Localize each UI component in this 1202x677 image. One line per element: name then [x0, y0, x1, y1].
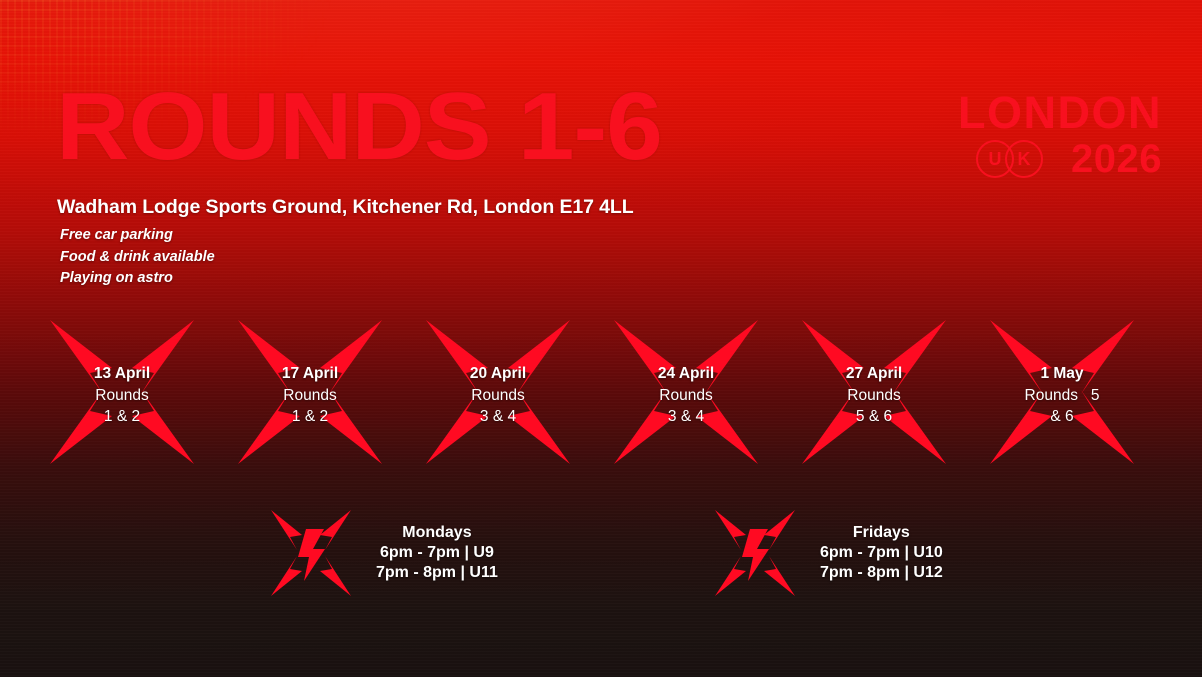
lightning-burst-icon	[712, 505, 798, 601]
venue-notes: Free car parking Food & drink available …	[60, 225, 215, 290]
training-text-mondays: Mondays 6pm - 7pm | U9 7pm - 8pm | U11	[376, 523, 498, 583]
page-title: ROUNDS 1-6	[56, 79, 662, 175]
fixture-burst[interactable]: 27 AprilRounds5 & 6	[798, 316, 950, 468]
logo-year-label: 2026	[1071, 139, 1162, 179]
poster-canvas: ROUNDS 1-6 Wadham Lodge Sports Ground, K…	[0, 0, 1202, 677]
training-block-mondays: Mondays 6pm - 7pm | U9 7pm - 8pm | U11	[268, 505, 498, 601]
fixture-burst[interactable]: 13 AprilRounds1 & 2	[46, 316, 198, 468]
training-slot-1: 6pm - 7pm | U10	[820, 544, 943, 561]
training-slot-2: 7pm - 8pm | U12	[820, 564, 943, 581]
training-day-label: Mondays	[402, 524, 471, 541]
uk-roundel-icon: U K	[976, 140, 1062, 178]
venue-note-0: Free car parking	[60, 225, 215, 247]
venue-note-2: Playing on astro	[60, 268, 215, 290]
fixture-burst[interactable]: 1 MayRounds 5& 6	[986, 316, 1138, 468]
training-day-label: Fridays	[853, 524, 910, 541]
training-block-fridays: Fridays 6pm - 7pm | U10 7pm - 8pm | U12	[712, 505, 943, 601]
london-2026-logo: LONDON U K 2026	[958, 90, 1162, 179]
venue-note-1: Food & drink available	[60, 247, 215, 269]
fixture-burst[interactable]: 20 AprilRounds3 & 4	[422, 316, 574, 468]
training-text-fridays: Fridays 6pm - 7pm | U10 7pm - 8pm | U12	[820, 523, 943, 583]
logo-city-label: LONDON	[958, 90, 1162, 135]
logo-second-row: U K 2026	[958, 139, 1162, 179]
venue-address: Wadham Lodge Sports Ground, Kitchener Rd…	[57, 196, 634, 219]
lightning-burst-icon	[268, 505, 354, 601]
fixture-burst[interactable]: 17 AprilRounds1 & 2	[234, 316, 386, 468]
fixture-burst[interactable]: 24 AprilRounds3 & 4	[610, 316, 762, 468]
logo-k-letter: K	[1005, 140, 1043, 178]
fixture-row: 13 AprilRounds1 & 2 17 AprilRounds1 & 2 …	[0, 316, 1202, 481]
training-slot-1: 6pm - 7pm | U9	[380, 544, 494, 561]
training-slot-2: 7pm - 8pm | U11	[376, 564, 498, 581]
